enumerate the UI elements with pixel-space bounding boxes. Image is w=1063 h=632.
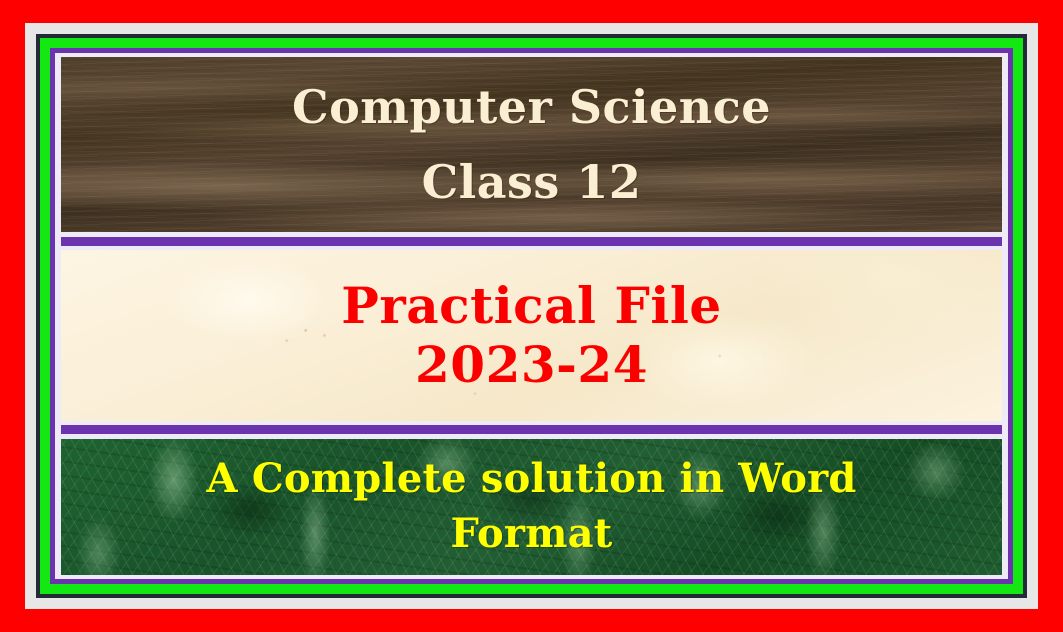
divider-rule — [61, 425, 1002, 434]
frame-border-green: Computer Science Class 12 Practical File… — [40, 38, 1023, 594]
tagline-line-2: Format — [451, 513, 613, 555]
title-panel: Practical File 2023-24 — [61, 250, 1002, 420]
cover-inner-page: Computer Science Class 12 Practical File… — [55, 53, 1008, 579]
frame-border-paper: Computer Science Class 12 Practical File… — [25, 23, 1038, 609]
document-title: Practical File — [341, 279, 721, 332]
cover-page: Computer Science Class 12 Practical File… — [0, 0, 1063, 632]
academic-year: 2023-24 — [415, 338, 648, 391]
tagline-line-1: A Complete solution in Word — [206, 458, 856, 500]
frame-border-navy: Computer Science Class 12 Practical File… — [36, 34, 1027, 598]
panel-divider-bottom — [61, 421, 1002, 439]
frame-border-purple: Computer Science Class 12 Practical File… — [50, 48, 1013, 584]
subject-header-panel: Computer Science Class 12 — [61, 57, 1002, 232]
tagline-panel: A Complete solution in Word Format — [61, 439, 1002, 575]
class-label: Class 12 — [422, 158, 642, 207]
divider-rule — [61, 237, 1002, 246]
subject-title: Computer Science — [292, 83, 771, 132]
panel-divider-top — [61, 232, 1002, 250]
